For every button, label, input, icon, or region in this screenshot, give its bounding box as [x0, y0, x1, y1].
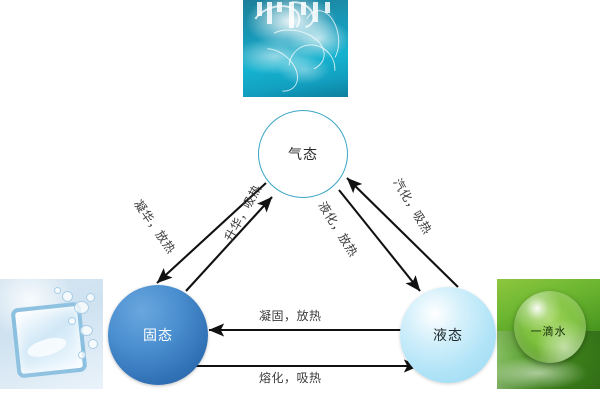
edge-label-melting: 熔化，吸热 — [259, 369, 322, 386]
arrow-layer — [0, 0, 600, 403]
node-gas[interactable]: 气态 — [258, 110, 348, 198]
node-gas-label: 气态 — [288, 144, 318, 164]
node-liquid[interactable]: 液态 — [400, 287, 496, 383]
node-solid[interactable]: 固态 — [108, 285, 208, 385]
edge-label-freezing: 凝固，放热 — [259, 307, 322, 324]
node-liquid-label: 液态 — [433, 325, 463, 345]
diagram-canvas: 一滴水 气态 固态 液态 凝华，放热 升华，吸热 液化，放热 汽化，吸热 凝 — [0, 0, 600, 403]
node-solid-label: 固态 — [143, 325, 173, 345]
